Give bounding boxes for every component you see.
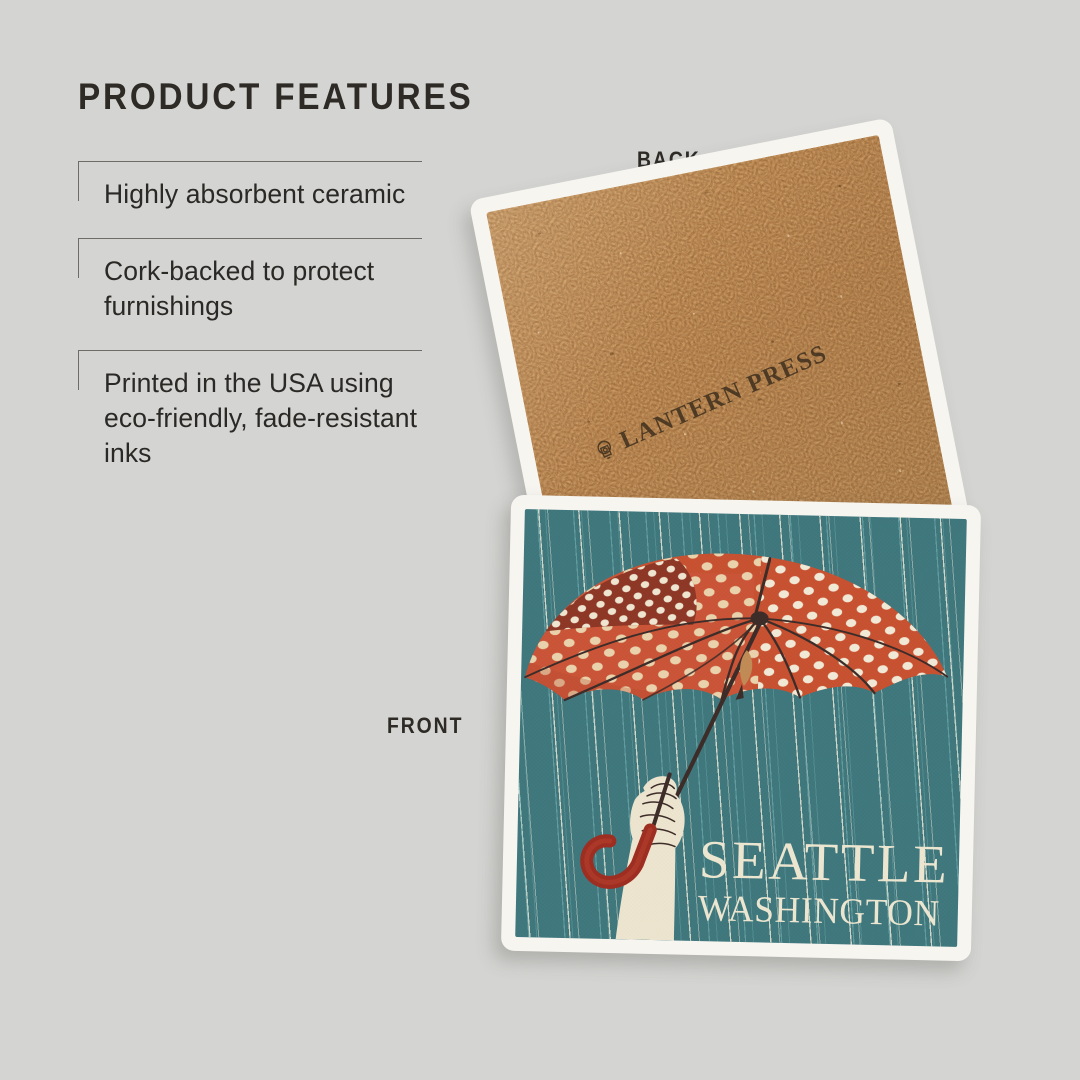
poster-title-sub: WASHINGTON (697, 890, 940, 932)
product-features-panel: PRODUCT FEATURES Highly absorbent cerami… (78, 78, 428, 497)
list-item: Cork-backed to protect furnishings (78, 238, 428, 324)
hand (616, 773, 686, 940)
front-coaster: SEATTLE WASHINGTON (501, 495, 981, 962)
feature-text: Cork-backed to protect furnishings (78, 254, 428, 324)
front-label: FRONT (387, 713, 463, 739)
umbrella-canopy (520, 529, 967, 739)
page-title: PRODUCT FEATURES (78, 78, 393, 115)
divider (78, 238, 422, 239)
lantern-press-logo: LANTERN PRESS (590, 340, 832, 467)
feature-text: Highly absorbent ceramic (78, 177, 428, 212)
list-item: Highly absorbent ceramic (78, 161, 428, 212)
divider (78, 161, 422, 162)
divider (78, 350, 422, 351)
lantern-icon (590, 435, 620, 466)
divider-tick (78, 161, 79, 201)
divider-tick (78, 238, 79, 278)
list-item: Printed in the USA using eco-friendly, f… (78, 350, 428, 471)
poster-title-main: SEATTLE (698, 832, 956, 892)
brand-name: LANTERN PRESS (616, 340, 832, 455)
divider-tick (78, 350, 79, 390)
poster-title-block: SEATTLE WASHINGTON (697, 832, 951, 933)
feature-text: Printed in the USA using eco-friendly, f… (78, 366, 428, 471)
poster-artwork: SEATTLE WASHINGTON (515, 509, 967, 947)
